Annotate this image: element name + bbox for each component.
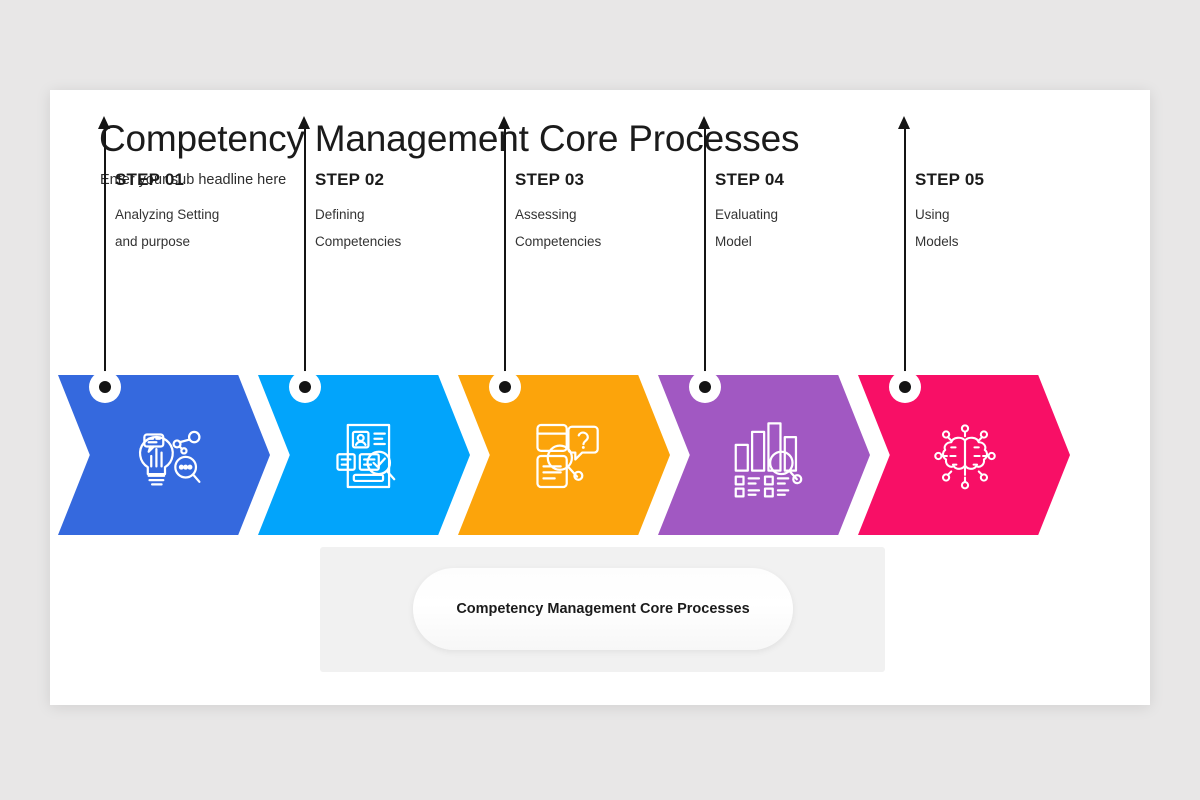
bar-chart-magnifier-icon <box>720 411 810 501</box>
pin-dot <box>689 371 721 403</box>
step-heading: STEP 02 <box>315 170 465 190</box>
step-desc-line-2: Competencies <box>315 228 465 255</box>
profile-document-check-magnifier-icon <box>320 411 410 501</box>
step-text-5: STEP 05 Using Models <box>915 170 1065 255</box>
step-chevron-3[interactable] <box>458 375 670 535</box>
step-desc-line-1: Assessing <box>515 201 665 228</box>
step-chevron-2[interactable] <box>258 375 470 535</box>
step-desc-line-2: Model <box>715 228 865 255</box>
bottom-pill-button[interactable]: Competency Management Core Processes <box>413 568 793 650</box>
step-column-1[interactable]: STEP 01 Analyzing Setting and purpose <box>50 90 250 560</box>
step-desc-line-1: Evaluating <box>715 201 865 228</box>
step-desc-line-2: and purpose <box>115 228 265 255</box>
bottom-pill-label: Competency Management Core Processes <box>456 601 749 617</box>
step-column-2[interactable]: STEP 02 Defining Competencies <box>250 90 450 560</box>
pin-dot <box>89 371 121 403</box>
step-text-4: STEP 04 Evaluating Model <box>715 170 865 255</box>
step-chevron-1[interactable] <box>58 375 270 535</box>
step-column-3[interactable]: STEP 03 Assessing Competencies <box>450 90 650 560</box>
pin-dot <box>889 371 921 403</box>
slide-card: Competency Management Core Processes Ent… <box>50 90 1150 705</box>
documents-question-magnifier-icon <box>520 411 610 501</box>
step-chevron-5[interactable] <box>858 375 1070 535</box>
step-text-1: STEP 01 Analyzing Setting and purpose <box>115 170 265 255</box>
pin-dot <box>489 371 521 403</box>
pin-line <box>304 126 306 389</box>
step-desc-line-2: Competencies <box>515 228 665 255</box>
step-column-4[interactable]: STEP 04 Evaluating Model <box>650 90 850 560</box>
step-text-2: STEP 02 Defining Competencies <box>315 170 465 255</box>
pin-dot <box>289 371 321 403</box>
step-desc-line-2: Models <box>915 228 1065 255</box>
step-heading: STEP 04 <box>715 170 865 190</box>
brain-network-icon <box>920 411 1010 501</box>
bottom-panel: Competency Management Core Processes <box>320 547 885 672</box>
step-chevron-4[interactable] <box>658 375 870 535</box>
pin-line <box>504 126 506 389</box>
steps-row: STEP 01 Analyzing Setting and purpose <box>50 90 1150 560</box>
pin-line <box>904 126 906 389</box>
step-desc-line-1: Using <box>915 201 1065 228</box>
step-heading: STEP 01 <box>115 170 265 190</box>
step-text-3: STEP 03 Assessing Competencies <box>515 170 665 255</box>
step-heading: STEP 05 <box>915 170 1065 190</box>
step-desc-line-1: Analyzing Setting <box>115 201 265 228</box>
step-column-5[interactable]: STEP 05 Using Models <box>850 90 1050 560</box>
lightbulb-chart-magnifier-icon <box>120 411 210 501</box>
pin-line <box>704 126 706 389</box>
step-heading: STEP 03 <box>515 170 665 190</box>
pin-line <box>104 126 106 389</box>
step-desc-line-1: Defining <box>315 201 465 228</box>
